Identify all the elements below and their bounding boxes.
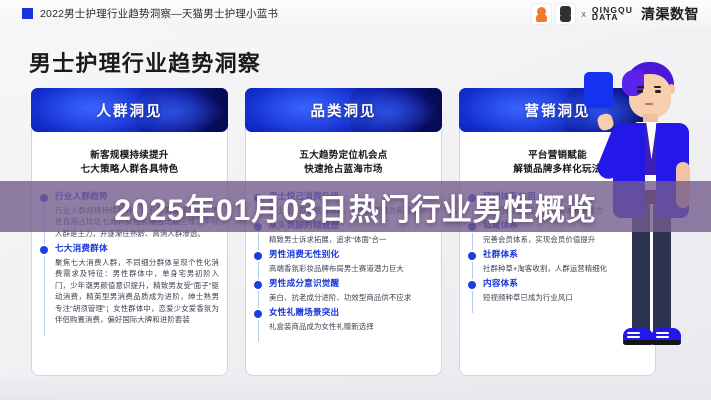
section-body: 高端香氛彩妆品牌布局男士赛道潜力巨大 [269, 263, 433, 275]
right-eye [655, 90, 661, 93]
poster-stage: 2022男士护理行业趋势洞察—天猫男士护理小蓝书 x QINGQU DATA 清… [0, 0, 711, 400]
panel-header-label: 品类洞见 [245, 88, 442, 132]
timeline-item: 七大消费群体 聚焦七大消费人群，不同细分群体呈现个性化消费需求及特征：男性群体中… [42, 243, 219, 326]
breadcrumb-label: 2022男士护理行业趋势洞察—天猫男士护理小蓝书 [40, 6, 278, 21]
breadcrumb: 2022男士护理行业趋势洞察—天猫男士护理小蓝书 [22, 6, 278, 21]
timeline-item: 女性礼赠场景突出 礼盒装商品成为女性礼赠新选择 [256, 307, 433, 332]
left-sole [623, 340, 653, 345]
blue-square-icon [22, 8, 33, 19]
panel-header: 人群洞见 [31, 88, 228, 132]
section-heading: 七大消费群体 [55, 243, 219, 254]
dark-cat-mascot-icon [556, 4, 575, 24]
column-crowd-insight: 新客规模持续提升七大策略人群各具特色 行业人群趋势 行业人群规模持续扩升，行业新… [31, 88, 228, 132]
card-body: 五大趋势定位机会点快速抢占蓝海市场 男士悦己消费升级 男士自我取悦意识崛起，高端… [245, 118, 442, 376]
timeline-dot-icon [254, 310, 262, 318]
section-body: 美白、抗老成分进阶、功效型商品供不应求 [269, 292, 433, 304]
page-title: 男士护理行业趋势洞察 [29, 46, 261, 78]
brand-logo: x QINGQU DATA 清渠数智 [532, 3, 699, 25]
right-shoe-stripe [656, 332, 669, 334]
left-eyebrow [637, 86, 644, 88]
timeline-dot-icon [254, 281, 262, 289]
top-bar: 2022男士护理行业趋势洞察—天猫男士护理小蓝书 x QINGQU DATA 清… [0, 0, 711, 27]
left-shoe-stripe [627, 332, 640, 334]
panel-header-label: 人群洞见 [31, 88, 228, 132]
right-sole [651, 340, 681, 345]
timeline-dot-icon [468, 252, 476, 260]
left-shoe-stripe [627, 336, 640, 338]
brand-x-label: x [580, 9, 587, 19]
card-body: 新客规模持续提升七大策略人群各具特色 行业人群趋势 行业人群规模持续扩升，行业新… [31, 118, 228, 376]
orange-cat-mascot-icon [532, 4, 551, 24]
blue-card-prop-icon [584, 72, 613, 108]
timeline-dot-icon [40, 246, 48, 254]
column-category-insight: 五大趋势定位机会点快速抢占蓝海市场 男士悦己消费升级 男士自我取悦意识崛起，高端… [245, 88, 442, 132]
card-subtitle: 五大趋势定位机会点快速抢占蓝海市场 [246, 149, 441, 177]
timeline-dot-icon [468, 281, 476, 289]
mouth [645, 103, 653, 105]
timeline-item: 男性消费无性别化 高端香氛彩妆品牌布局男士赛道潜力巨大 [256, 249, 433, 274]
section-heading: 男性成分意识觉醒 [269, 278, 433, 289]
left-eye [637, 90, 643, 93]
right-eyebrow [654, 86, 661, 88]
overlay-headline: 2025年01月03日热门行业男性概览 [0, 183, 711, 230]
section-heading: 女性礼赠场景突出 [269, 307, 433, 318]
section-body: 聚焦七大消费人群，不同细分群体呈现个性化消费需求及特征：男性群体中，单身宅男初阶… [55, 257, 219, 326]
brand-english: QINGQU DATA [592, 7, 633, 22]
right-shoe-stripe [656, 336, 669, 338]
section-body: 精致男士诉求拓展，追求“体面”合一 [269, 234, 433, 246]
section-heading: 男性消费无性别化 [269, 249, 433, 260]
brand-english-line2: DATA [592, 14, 633, 22]
section-body: 礼盒装商品成为女性礼赠新选择 [269, 321, 433, 333]
panel-header: 品类洞见 [245, 88, 442, 132]
timeline-item: 男性成分意识觉醒 美白、抗老成分进阶、功效型商品供不应求 [256, 278, 433, 303]
card-subtitle: 新客规模持续提升七大策略人群各具特色 [32, 149, 227, 177]
brand-chinese: 清渠数智 [641, 4, 699, 24]
timeline-dot-icon [254, 252, 262, 260]
